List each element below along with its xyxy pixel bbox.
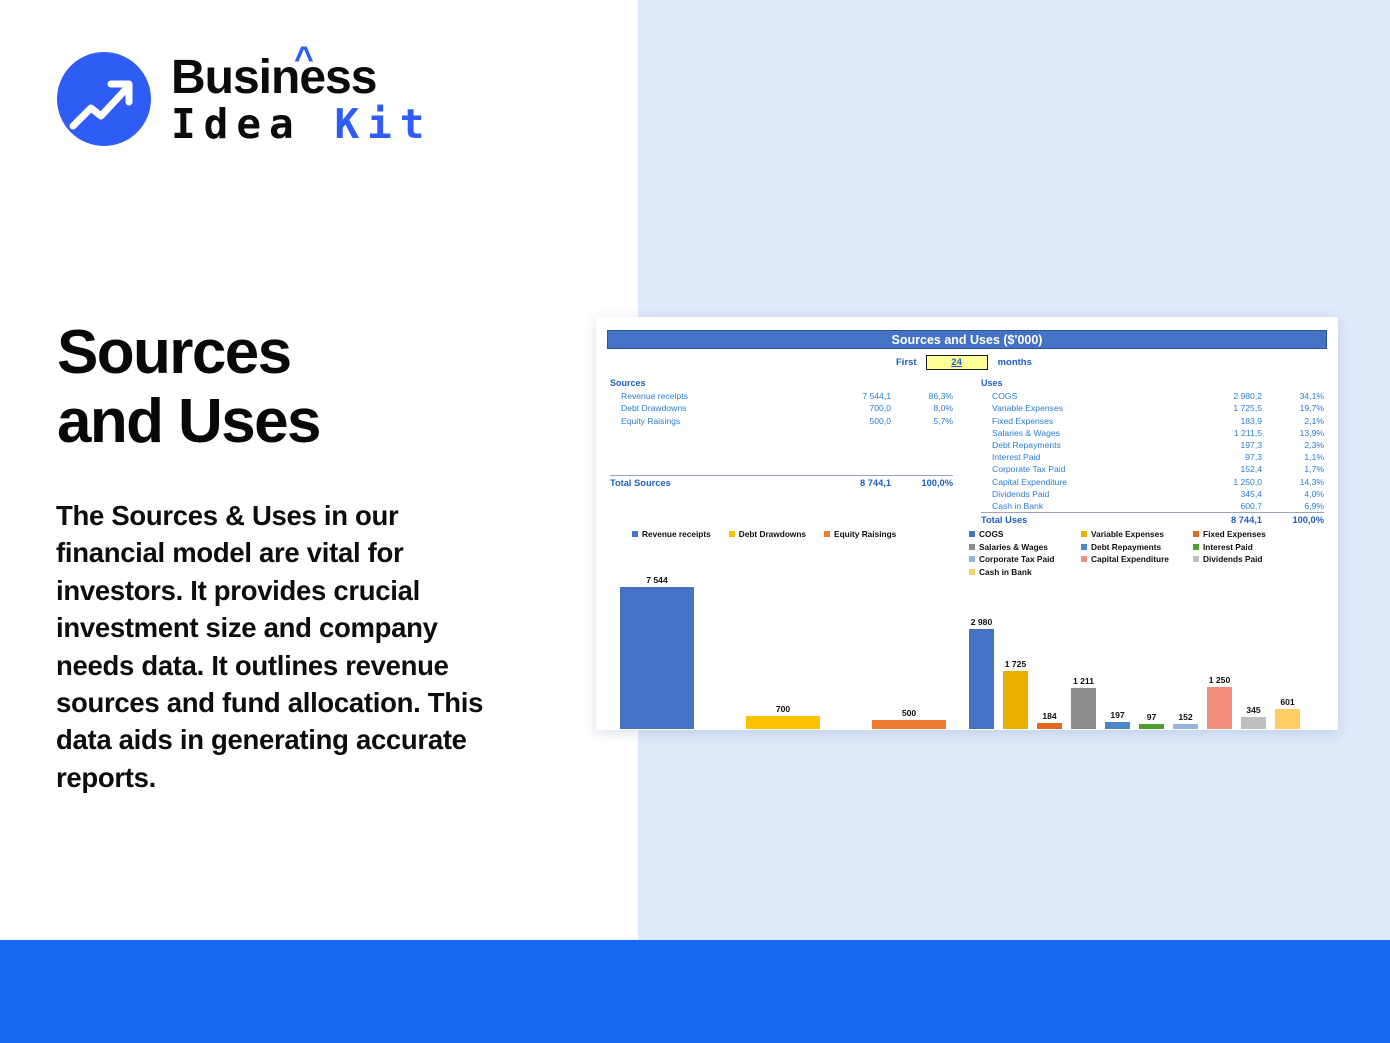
row-label: COGS [981,390,1178,402]
legend-swatch-icon [1193,531,1199,537]
brand-wordmark: Business ^ Idea Kit [171,54,433,145]
legend-item[interactable]: Dividends Paid [1193,554,1305,564]
legend-item[interactable]: Cash in Bank [969,567,1081,577]
legend-item[interactable]: Interest Paid [1193,542,1305,552]
brand-circumflex-icon: ^ [294,42,313,76]
period-prefix-label: First [896,357,917,368]
legend-label: Salaries & Wages [979,542,1048,552]
bar[interactable] [746,716,820,729]
row-label: Dividends Paid [981,488,1178,500]
period-months-input[interactable]: 24 [926,355,988,370]
table-row: Salaries & Wages 1 211,5 13,9% [981,427,1324,439]
legend-label: COGS [979,529,1003,539]
row-label: Debt Repayments [981,439,1178,451]
total-percent: 100,0% [1262,512,1324,526]
spacer-row [610,427,953,434]
bar-value-label: 197 [1110,710,1124,720]
sources-heading: Sources [610,377,953,390]
bar-column[interactable]: 700 [746,569,820,729]
table-row: Revenue receipts 7 544,1 86,3% [610,390,953,402]
legend-swatch-icon [969,531,975,537]
bar-column[interactable]: 2 980 [969,609,994,729]
table-row: Interest Paid 97,3 1,1% [981,451,1324,463]
bar-column[interactable]: 345 [1241,609,1266,729]
row-value: 345,4 [1178,488,1262,500]
uses-heading: Uses [981,377,1324,390]
legend-swatch-icon [1081,556,1087,562]
legend-label: Corporate Tax Paid [979,554,1054,564]
legend-label: Variable Expenses [1091,529,1164,539]
row-value: 152,4 [1178,463,1262,475]
legend-item[interactable]: COGS [969,529,1081,539]
period-suffix-label: months [998,357,1032,368]
row-percent: 6,9% [1262,500,1324,513]
table-row: Fixed Expenses 183,9 2,1% [981,414,1324,426]
bar-value-label: 184 [1042,711,1056,721]
row-value: 1 250,0 [1178,475,1262,487]
legend-item[interactable]: Fixed Expenses [1193,529,1305,539]
legend-label: Equity Raisings [834,529,896,539]
legend-item[interactable]: Salaries & Wages [969,542,1081,552]
legend-label: Capital Expenditure [1091,554,1169,564]
total-percent: 100,0% [891,476,953,490]
bar[interactable] [1139,724,1164,729]
row-value: 600,7 [1178,500,1262,513]
row-value: 97,3 [1178,451,1262,463]
legend-label: Fixed Expenses [1203,529,1266,539]
bar[interactable] [1105,722,1130,729]
row-label: Cash in Bank [981,500,1178,513]
legend-swatch-icon [969,544,975,550]
period-selector-row: First 24 months [596,355,1338,370]
bar[interactable] [1241,717,1266,729]
uses-bar-chart: COGSVariable ExpensesFixed ExpensesSalar… [959,529,1338,729]
legend-label: Revenue receipts [642,529,711,539]
bar[interactable] [1003,671,1028,729]
uses-chart-plot: 2 9801 7251841 211197971521 250345601 [959,609,1338,729]
row-percent: 86,3% [891,390,953,402]
total-value: 8 744,1 [807,476,891,490]
row-label: Equity Raisings [610,414,807,426]
spacer-row [610,434,953,441]
sources-total-row: Total Sources 8 744,1 100,0% [610,476,953,490]
spacer-row [610,469,953,476]
row-label: Debt Drawdowns [610,402,807,414]
row-label: Salaries & Wages [981,427,1178,439]
legend-swatch-icon [969,556,975,562]
bar[interactable] [872,720,946,729]
legend-label: Dividends Paid [1203,554,1262,564]
bar-value-label: 700 [776,704,790,714]
brand-name-idea: Idea [171,100,302,148]
card-title-bar: Sources and Uses ($'000) [607,330,1327,349]
bar-value-label: 7 544 [646,575,668,585]
sources-heading-row: Sources [610,377,953,390]
spacer-row [610,441,953,448]
legend-swatch-icon [824,531,830,537]
table-row: Variable Expenses 1 725,5 19,7% [981,402,1324,414]
brand-logo[interactable]: Business ^ Idea Kit [57,52,433,146]
legend-swatch-icon [1081,531,1087,537]
row-percent: 1,7% [1262,463,1324,475]
bar[interactable] [1207,687,1232,729]
legend-label: Debt Drawdowns [739,529,806,539]
brand-name-business: Business [171,51,376,104]
legend-swatch-icon [969,569,975,575]
table-row: Corporate Tax Paid 152,4 1,7% [981,463,1324,475]
bar-column[interactable]: 152 [1173,609,1198,729]
row-value: 700,0 [807,402,891,414]
footer-band [0,940,1390,1043]
bar-value-label: 97 [1147,712,1157,722]
row-percent: 2,1% [1262,414,1324,426]
row-value: 7 544,1 [807,390,891,402]
brand-name-line1: Business ^ [171,54,376,102]
bar[interactable] [620,587,694,729]
row-percent: 34,1% [1262,390,1324,402]
summary-tables: Sources Revenue receipts 7 544,1 86,3% D… [596,377,1338,526]
uses-table: Uses COGS 2 980,2 34,1% Variable Expense… [967,377,1338,526]
brand-name-kit: Kit [334,100,432,148]
uses-total-row: Total Uses 8 744,1 100,0% [981,512,1324,526]
bar-value-label: 1 211 [1073,676,1094,686]
legend-item[interactable]: Debt Repayments [1081,542,1193,552]
legend-label: Interest Paid [1203,542,1253,552]
table-row: Cash in Bank 600,7 6,9% [981,500,1324,513]
legend-swatch-icon [1193,544,1199,550]
row-percent: 8,0% [891,402,953,414]
legend-swatch-icon [729,531,735,537]
row-value: 183,9 [1178,414,1262,426]
row-label: Interest Paid [981,451,1178,463]
total-label: Total Sources [610,476,807,490]
legend-item[interactable]: Corporate Tax Paid [969,554,1081,564]
sources-bar-chart: Revenue receiptsDebt DrawdownsEquity Rai… [596,529,959,729]
row-percent: 14,3% [1262,475,1324,487]
bar[interactable] [1275,709,1300,729]
row-percent: 2,3% [1262,439,1324,451]
legend-label: Cash in Bank [979,567,1032,577]
row-value: 500,0 [807,414,891,426]
brand-name-line2: Idea Kit [171,104,433,145]
bar-value-label: 500 [902,708,916,718]
slide-canvas: Business ^ Idea Kit Sources and Uses The… [0,0,1390,1043]
bar-column[interactable]: 7 544 [620,569,694,729]
bar-value-label: 345 [1246,705,1260,715]
bar-column[interactable]: 601 [1275,609,1300,729]
bar-column[interactable]: 1 725 [1003,609,1028,729]
row-value: 2 980,2 [1178,390,1262,402]
row-percent: 4,0% [1262,488,1324,500]
legend-label: Debt Repayments [1091,542,1161,552]
table-row: Equity Raisings 500,0 5,7% [610,414,953,426]
legend-swatch-icon [632,531,638,537]
bar-value-label: 601 [1280,697,1294,707]
legend-item[interactable]: Variable Expenses [1081,529,1193,539]
row-percent: 19,7% [1262,402,1324,414]
table-row: Capital Expenditure 1 250,0 14,3% [981,475,1324,487]
bar[interactable] [1173,724,1198,729]
page-title-line1: Sources [57,318,290,387]
spreadsheet-card: Sources and Uses ($'000) First 24 months… [596,317,1338,730]
table-row: Dividends Paid 345,4 4,0% [981,488,1324,500]
bar-column[interactable]: 1 250 [1207,609,1232,729]
row-value: 197,3 [1178,439,1262,451]
bar-value-label: 152 [1178,712,1192,722]
bar-column[interactable]: 184 [1037,609,1062,729]
page-description: The Sources & Uses in our financial mode… [56,497,511,796]
uses-heading-row: Uses [981,377,1324,390]
page-title-line2: and Uses [57,387,320,456]
total-label: Total Uses [981,512,1178,526]
spacer-row [610,448,953,455]
legend-item[interactable]: Capital Expenditure [1081,554,1193,564]
row-label: Revenue receipts [610,390,807,402]
legend-item[interactable]: Equity Raisings [824,529,896,539]
bar[interactable] [1037,723,1062,729]
bar[interactable] [969,629,994,729]
table-row: Debt Drawdowns 700,0 8,0% [610,402,953,414]
bar-column[interactable]: 197 [1105,609,1130,729]
bar-column[interactable]: 1 211 [1071,609,1096,729]
uses-chart-legend: COGSVariable ExpensesFixed ExpensesSalar… [969,529,1309,579]
sources-chart-plot: 7 544700500 [596,569,959,729]
sources-chart-legend: Revenue receiptsDebt DrawdownsEquity Rai… [624,529,959,539]
bar-value-label: 1 250 [1209,675,1231,685]
table-row: Debt Repayments 197,3 2,3% [981,439,1324,451]
legend-item[interactable]: Revenue receipts [632,529,711,539]
row-label: Capital Expenditure [981,475,1178,487]
row-value: 1 725,5 [1178,402,1262,414]
page-title: Sources and Uses [57,318,320,457]
spacer-row [610,462,953,469]
bar-value-label: 1 725 [1005,659,1027,669]
total-value: 8 744,1 [1178,512,1262,526]
legend-item[interactable]: Debt Drawdowns [729,529,806,539]
bar-column[interactable]: 500 [872,569,946,729]
spacer-row [610,455,953,462]
sources-table: Sources Revenue receipts 7 544,1 86,3% D… [596,377,967,526]
row-label: Corporate Tax Paid [981,463,1178,475]
logo-chart-arrow-icon [57,52,151,146]
row-label: Fixed Expenses [981,414,1178,426]
row-percent: 1,1% [1262,451,1324,463]
row-percent: 13,9% [1262,427,1324,439]
table-row: COGS 2 980,2 34,1% [981,390,1324,402]
row-value: 1 211,5 [1178,427,1262,439]
charts-area: Revenue receiptsDebt DrawdownsEquity Rai… [596,529,1338,729]
legend-swatch-icon [1081,544,1087,550]
bar-column[interactable]: 97 [1139,609,1164,729]
row-label: Variable Expenses [981,402,1178,414]
row-percent: 5,7% [891,414,953,426]
legend-swatch-icon [1193,556,1199,562]
bar-value-label: 2 980 [971,617,993,627]
bar[interactable] [1071,688,1096,729]
